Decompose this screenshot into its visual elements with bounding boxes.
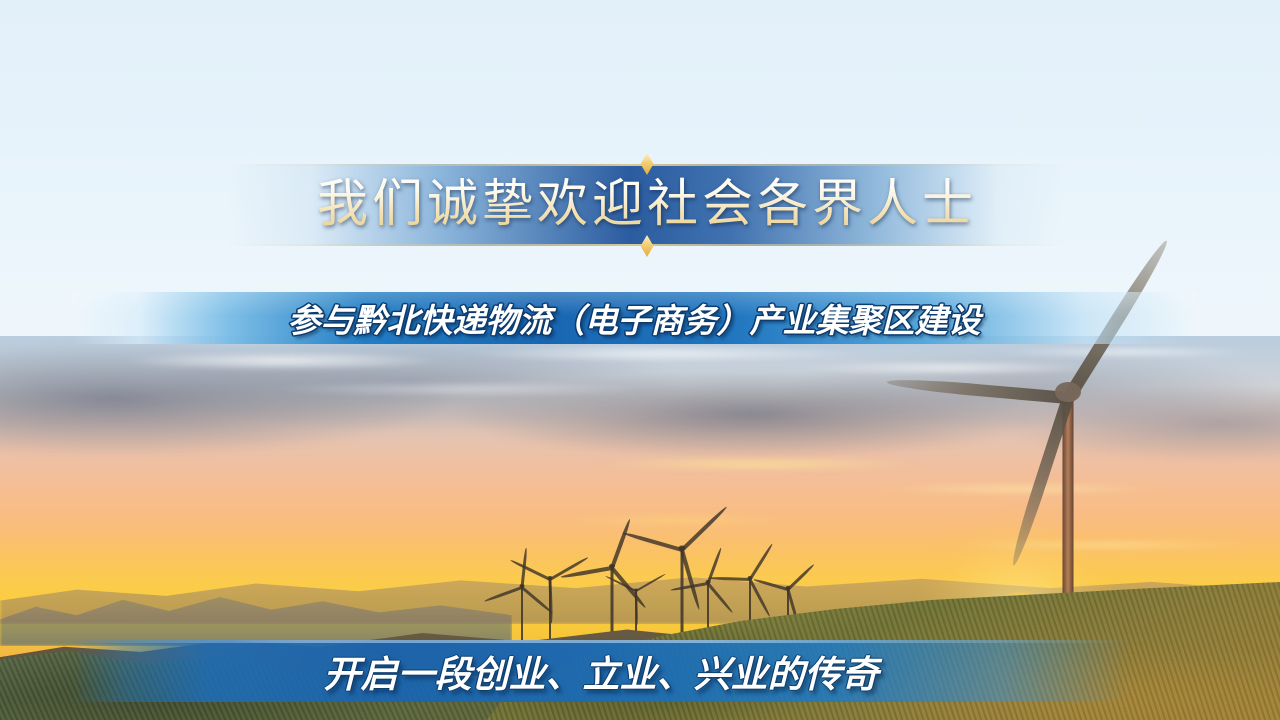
- presentation-slide: 我们诚挚欢迎社会各界人士 参与黔北快递物流（电子商务）产业集聚区建设 开启一段创…: [0, 0, 1280, 720]
- turbine-s1: [680, 548, 684, 652]
- footer-text: 开启一段创业、立业、兴业的传奇: [72, 640, 1130, 702]
- headline-text: 我们诚挚欢迎社会各界人士: [228, 164, 1066, 246]
- subtitle-banner: 参与黔北快递物流（电子商务）产业集聚区建设: [72, 292, 1196, 344]
- turbine-hub: [1055, 382, 1081, 402]
- footer-banner: 开启一段创业、立业、兴业的传奇: [72, 640, 1130, 702]
- headline-banner: 我们诚挚欢迎社会各界人士: [228, 164, 1066, 246]
- subtitle-text: 参与黔北快递物流（电子商务）产业集聚区建设: [72, 292, 1196, 344]
- turbine-blade: [635, 591, 638, 625]
